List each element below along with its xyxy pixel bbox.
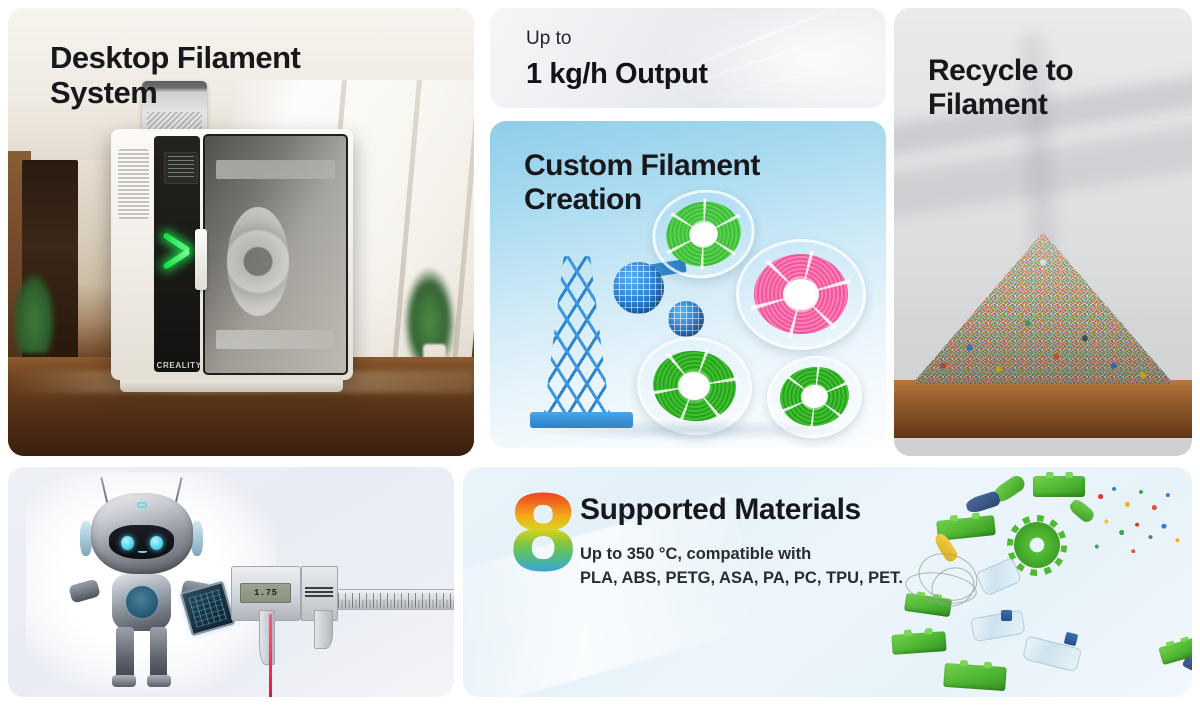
mesh-sphere-large-icon [613, 262, 664, 314]
card-custom-filament-creation[interactable]: Custom Filament Creation [490, 121, 886, 448]
printer-screen [164, 152, 198, 185]
caliper-scale-minor [324, 600, 454, 608]
chest-emblem-icon [126, 586, 158, 618]
materials-title: Supported Materials [580, 493, 903, 527]
printer-base [120, 380, 343, 393]
ground-shadow [522, 419, 855, 442]
plant-left-icon [13, 272, 55, 353]
card-output-rate[interactable]: Up to 1 kg/h Output [490, 8, 886, 108]
robot-visor [109, 525, 174, 559]
materials-text-block: Supported Materials Up to 350 °C, compat… [580, 493, 903, 591]
bottle-cap-icon [1001, 610, 1012, 621]
robot-mascot-icon [75, 481, 209, 683]
blue-clip-icon [965, 490, 1002, 515]
caliper-jaw-fixed [259, 610, 275, 665]
foot-right [147, 675, 171, 687]
digital-caliper-icon: 1.75 [231, 550, 454, 665]
chamber-rail [216, 330, 335, 349]
bottle-cap-icon [1064, 631, 1079, 646]
leg-right [150, 627, 167, 682]
card-printer-headline: Desktop Filament System [50, 40, 300, 111]
headline-line-1: Desktop Filament [50, 40, 300, 75]
materials-subtitle-line-2: PLA, ABS, PETG, ASA, PA, PC, TPU, PET. [580, 567, 903, 591]
door-handle [195, 229, 207, 289]
chamber-rail [216, 160, 335, 179]
leg-left [116, 627, 133, 682]
green-clamp-icon [943, 663, 1007, 691]
green-brick-bottom-icon [892, 631, 947, 655]
headline-line-1: Custom Filament [524, 149, 760, 183]
recycled-plastics-artwork [886, 467, 1192, 697]
output-value-label: 1 kg/h Output [526, 58, 708, 91]
card-recycle-to-filament[interactable]: Recycle to Filament [894, 8, 1192, 456]
printer-device-icon: CREALITY [111, 129, 353, 380]
spool-inside-chamber [227, 207, 289, 316]
caliper-reading-value: 1.75 [254, 588, 278, 598]
materials-count-numeral: 8 [507, 487, 579, 583]
card-custom-headline: Custom Filament Creation [524, 149, 760, 217]
green-brick-top-icon [1033, 476, 1085, 497]
wooden-table [894, 380, 1192, 438]
vent-grille [118, 149, 150, 219]
mesh-sphere-small-icon [668, 301, 704, 337]
water-bottle-mid-icon [971, 610, 1026, 643]
robot-head [91, 493, 193, 574]
ear-right [191, 521, 203, 555]
pile-shading [912, 232, 1174, 384]
spool-hub [783, 279, 820, 310]
headline-line-2: System [50, 75, 300, 110]
spool-pink-icon [736, 239, 867, 350]
eye-right-icon [150, 536, 163, 550]
printer-brand-label: CREALITY [157, 361, 201, 370]
card-desktop-filament-system[interactable]: CREALITY Desktop Filament System [8, 8, 474, 456]
eye-left-icon [121, 536, 134, 550]
tower-lattice [544, 256, 610, 413]
foot-left [112, 675, 136, 687]
caliper-display: 1.75 [240, 583, 291, 603]
card-recycle-headline: Recycle to Filament [928, 54, 1073, 122]
card-robot-caliper[interactable]: 1.75 [8, 467, 454, 697]
printer-door [203, 134, 348, 375]
green-chevron-led [159, 229, 198, 314]
green-gear-icon [1014, 522, 1060, 568]
materials-subtitle-line-1: Up to 350 °C, compatible with [580, 543, 903, 567]
filament-strand [269, 614, 272, 697]
materials-subtitle: Up to 350 °C, compatible with PLA, ABS, … [580, 543, 903, 591]
forehead-badge-icon [137, 502, 147, 508]
caliper-jaw-movable [314, 610, 333, 649]
output-eyebrow-label: Up to [526, 28, 571, 50]
headline-line-2: Filament [928, 88, 1073, 122]
plastic-pellets-spray-icon [1091, 481, 1187, 559]
card-supported-materials[interactable]: 8 Supported Materials Up to 350 °C, comp… [463, 467, 1192, 697]
feature-card-grid: CREALITY Desktop Filament System Up to 1… [0, 0, 1200, 705]
smile-icon [138, 550, 147, 552]
headline-line-2: Creation [524, 183, 760, 217]
shredded-plastic-pile-icon [912, 232, 1174, 384]
headline-line-1: Recycle to [928, 54, 1073, 88]
